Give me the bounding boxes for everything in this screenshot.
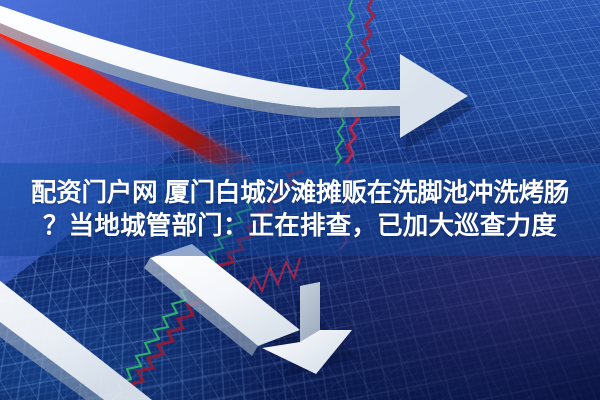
arrow-diagonal-band: [0, 276, 152, 400]
thumbnail-canvas: 配资门户网 厦门白城沙滩摊贩在洗脚池冲洗烤肠 ？当地城管部门：正在排查，已加大巡…: [0, 0, 600, 400]
arrow-curved-right: [0, 2, 474, 149]
arrow-down-right: [144, 244, 357, 378]
headline-line-2: ？当地城管部门：正在排查，已加大巡查力度: [43, 212, 557, 241]
headline-line-1: 配资门户网 厦门白城沙滩摊贩在洗脚池冲洗烤肠: [31, 179, 569, 208]
headline-block: 配资门户网 厦门白城沙滩摊贩在洗脚池冲洗烤肠 ？当地城管部门：正在排查，已加大巡…: [0, 163, 600, 256]
